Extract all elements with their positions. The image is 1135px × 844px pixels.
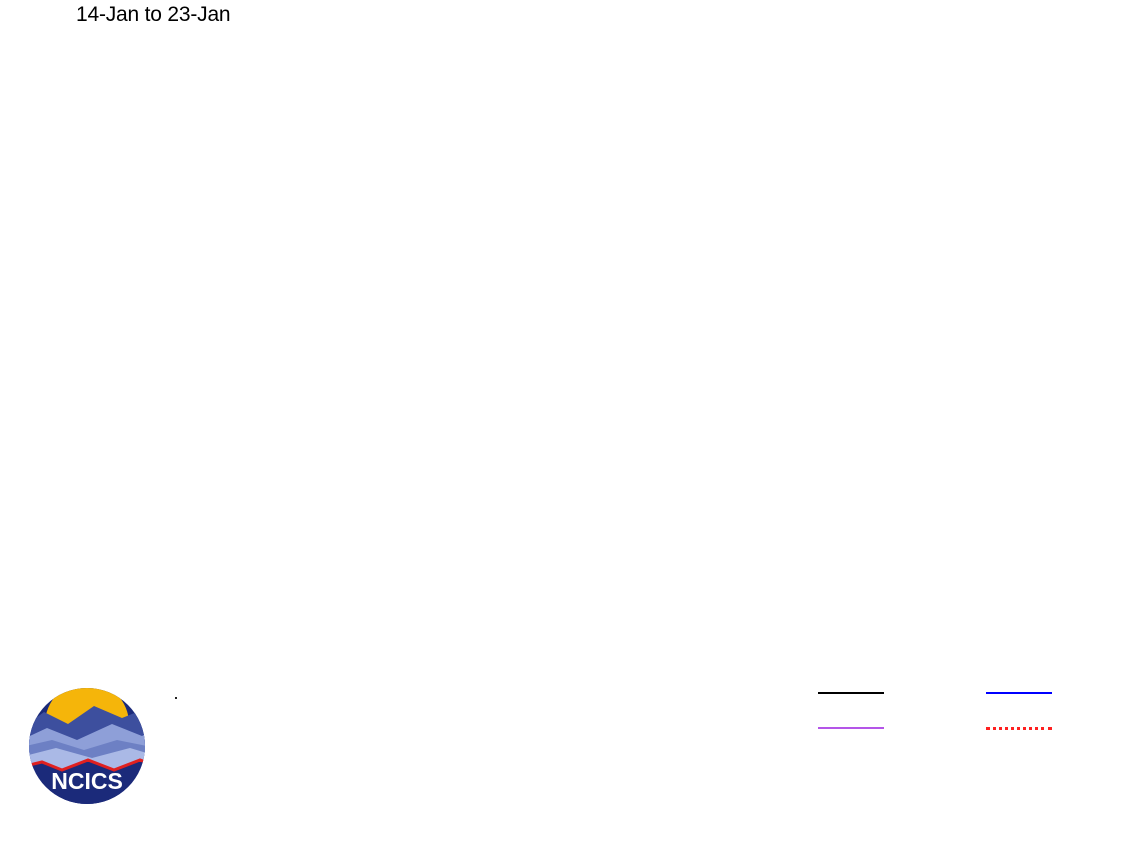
er-line-icon	[986, 727, 1052, 730]
ncics-logo-text: NCICS	[51, 768, 123, 794]
ncics-logo-icon: NCICS	[22, 684, 152, 814]
panel-title-obs-1: 14-Jan to 23-Jan	[76, 4, 230, 25]
colorbar	[175, 697, 177, 727]
colorbar-swatches	[175, 697, 177, 699]
xaxis-cfs-forecast	[630, 636, 1115, 662]
legend-item-low	[818, 727, 894, 729]
low-line-icon	[818, 727, 884, 729]
legend-item-er	[986, 727, 1062, 730]
legend-item-kelvin	[986, 692, 1062, 694]
legend-item-mjo	[818, 692, 894, 694]
ncics-logo: NCICS	[22, 684, 152, 814]
colorbar-ticklabels	[175, 701, 177, 727]
mjo-line-icon	[818, 692, 884, 694]
kelvin-line-icon	[986, 692, 1052, 694]
xaxis-observed	[72, 636, 557, 662]
